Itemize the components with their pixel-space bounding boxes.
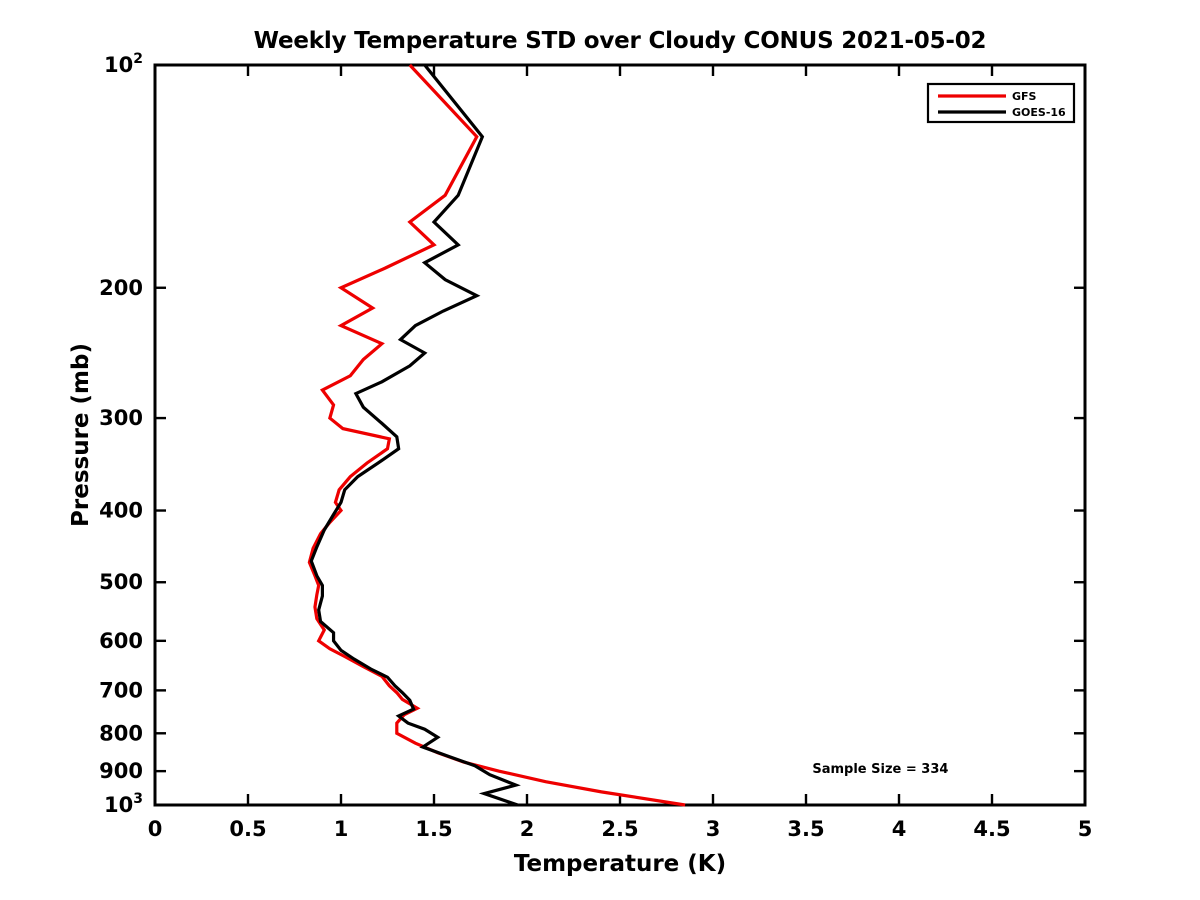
axes-frame <box>155 65 1085 805</box>
y-tick-label: 600 <box>99 629 143 653</box>
x-axis-title: Temperature (K) <box>514 851 726 877</box>
x-tick-label: 3.5 <box>787 817 824 841</box>
legend-label: GFS <box>1012 90 1037 103</box>
y-tick-label: 103 <box>104 791 143 817</box>
y-tick-label: 700 <box>99 678 143 702</box>
legend[interactable]: GFSGOES-16 <box>928 84 1074 122</box>
figure-canvas: Weekly Temperature STD over Cloudy CONUS… <box>0 0 1200 900</box>
data-series-group <box>309 65 685 805</box>
y-axis-title: Pressure (mb) <box>68 343 94 527</box>
x-tick-label: 0.5 <box>229 817 266 841</box>
x-tick-label: 4 <box>892 817 907 841</box>
y-tick-label: 200 <box>99 276 143 300</box>
y-tick-label: 800 <box>99 721 143 745</box>
series-line-goes-16 <box>311 65 517 805</box>
axes: 00.511.522.533.544.551022003004005006007… <box>68 51 1092 877</box>
x-tick-label: 3 <box>706 817 721 841</box>
sample-size-annotation: Sample Size = 334 <box>812 762 948 777</box>
y-tick-label: 102 <box>104 51 143 77</box>
line-chart-plot: 00.511.522.533.544.551022003004005006007… <box>0 0 1200 900</box>
y-tick-label: 300 <box>99 406 143 430</box>
x-tick-label: 1.5 <box>415 817 452 841</box>
x-tick-label: 2.5 <box>601 817 638 841</box>
x-tick-label: 4.5 <box>973 817 1010 841</box>
series-line-gfs <box>309 65 685 805</box>
y-tick-label: 900 <box>99 759 143 783</box>
annotations: Sample Size = 334 <box>812 762 948 777</box>
x-tick-label: 1 <box>334 817 349 841</box>
x-tick-label: 0 <box>148 817 163 841</box>
y-tick-label: 400 <box>99 499 143 523</box>
x-tick-label: 5 <box>1078 817 1093 841</box>
y-tick-label: 500 <box>99 570 143 594</box>
legend-label: GOES-16 <box>1012 106 1066 119</box>
x-tick-label: 2 <box>520 817 535 841</box>
